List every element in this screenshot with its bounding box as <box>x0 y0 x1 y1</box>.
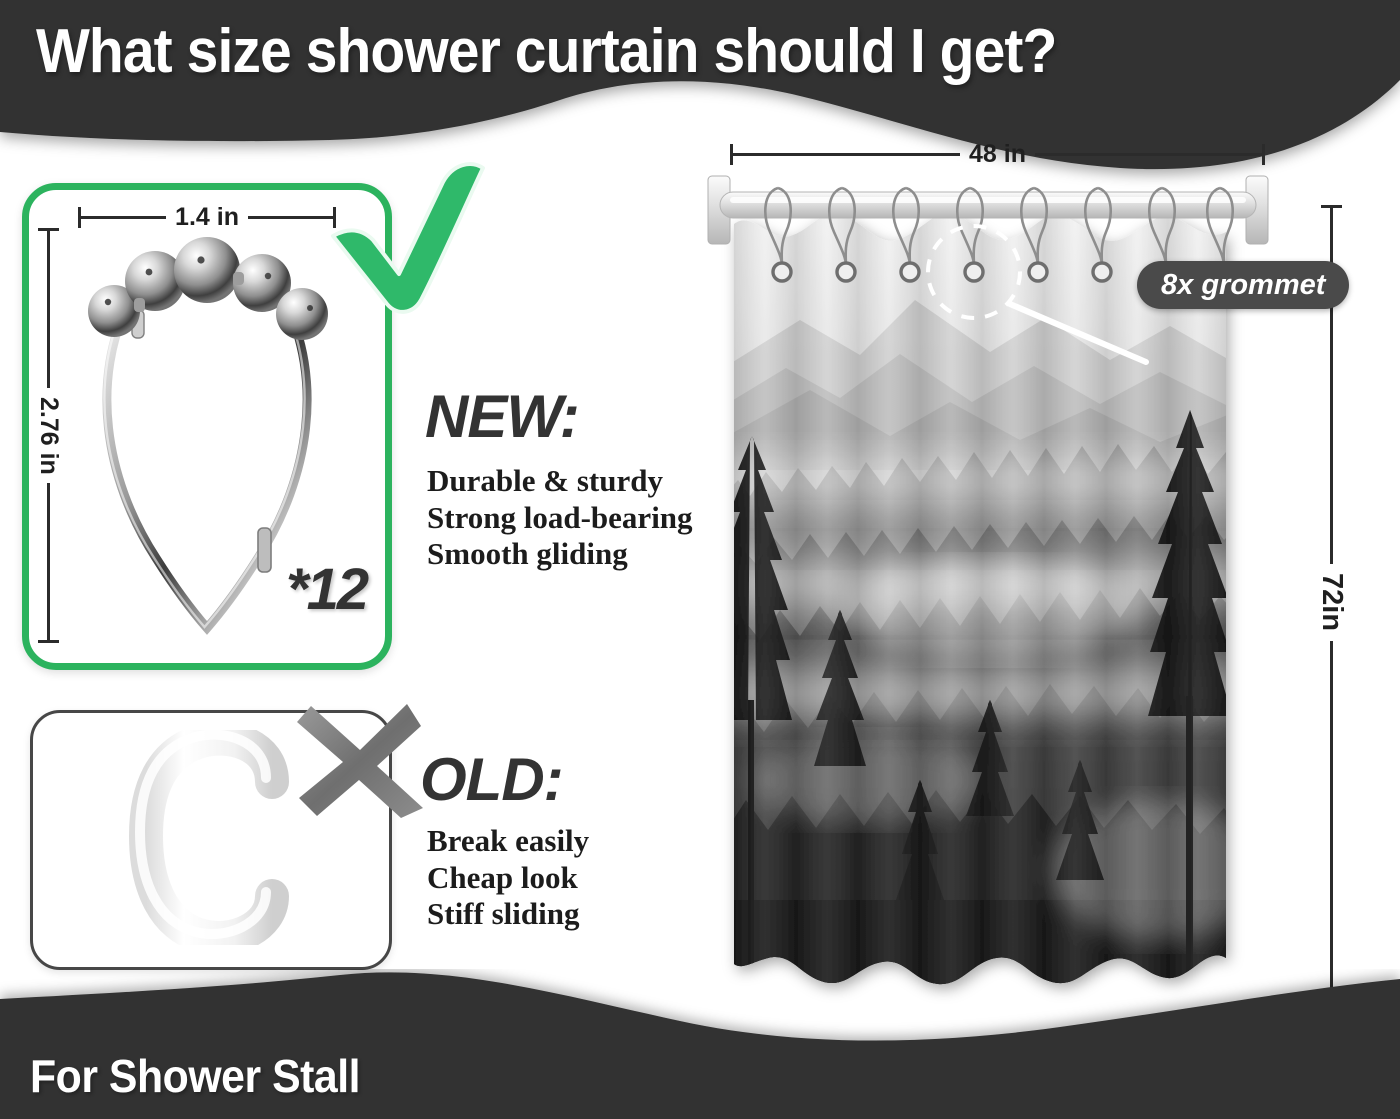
dim-line-bottom <box>47 483 50 640</box>
dim-tick-bottom <box>38 640 59 643</box>
ring-height-label: 2.76 in <box>34 388 63 484</box>
green-check-icon <box>325 158 490 318</box>
ring-quantity-label: *12 <box>286 556 367 623</box>
gray-x-icon <box>295 700 425 820</box>
dim-line-left <box>81 216 166 219</box>
footer-banner: For Shower Stall <box>0 969 1400 1119</box>
new-bullet-list: Durable & sturdy Strong load-bearing Smo… <box>427 463 693 573</box>
grommet-callout-badge: 8x grommet <box>1137 261 1349 309</box>
white-plastic-c-hook-icon <box>120 730 320 945</box>
dim-line-top <box>47 231 50 388</box>
page-title: What size shower curtain should I get? <box>36 16 1260 87</box>
infographic-canvas: What size shower curtain should I get? 1… <box>0 0 1400 1119</box>
ring-height-dimension: 2.76 in <box>34 228 63 643</box>
dim-line-right <box>248 216 333 219</box>
old-heading: OLD: <box>420 745 563 814</box>
new-heading: NEW: <box>425 382 579 451</box>
footer-title: For Shower Stall <box>30 1049 360 1103</box>
old-bullet-list: Break easily Cheap look Stiff sliding <box>427 823 589 933</box>
dim-line-bottom <box>1330 641 1333 997</box>
grommet-callout-label: 8x grommet <box>1161 269 1325 302</box>
